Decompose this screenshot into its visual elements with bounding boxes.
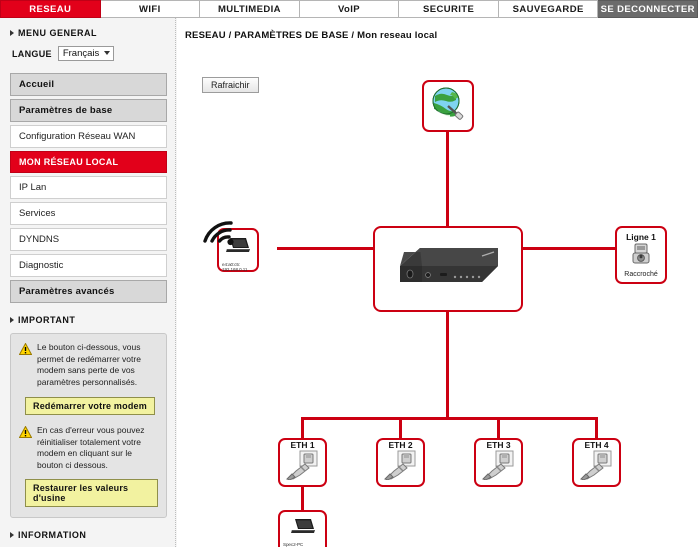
tab-wifi[interactable]: WIFI	[101, 0, 201, 18]
line-bus-to-eth1	[301, 417, 304, 438]
tab-securite[interactable]: SECURITE	[399, 0, 499, 18]
rj45-icon	[482, 450, 516, 485]
important-panel: Le bouton ci-dessous, vous permet de red…	[10, 333, 167, 518]
eth-1-label: ETH 1	[290, 440, 314, 450]
globe-plug-icon	[428, 84, 468, 129]
chevron-down-icon	[104, 51, 110, 55]
line-bus-to-eth2	[399, 417, 402, 438]
top-navigation: RESEAU WIFI MULTIMEDIA VoIP SECURITE SAU…	[0, 0, 698, 18]
information-header: INFORMATION	[10, 530, 167, 540]
factory-reset-button[interactable]: Restaurer les valeurs d'usine	[25, 479, 158, 507]
important-label: IMPORTANT	[18, 315, 75, 325]
important-header: IMPORTANT	[10, 315, 167, 325]
wifi-signal-icon	[201, 220, 237, 253]
node-eth-1[interactable]: ETH 1	[278, 438, 327, 487]
rj45-icon	[286, 450, 320, 485]
eth-2-label: ETH 2	[388, 440, 412, 450]
node-phone-line[interactable]: Ligne 1 Raccroché	[615, 226, 667, 284]
node-lan-client[interactable]: Spec2-PC d0:67:e5: 192.168.0.10	[278, 510, 327, 547]
menu-general-header: MENU GENERAL	[10, 28, 167, 38]
sidebar-item-dyndns[interactable]: DYNDNS	[10, 228, 167, 251]
triangle-right-icon	[10, 317, 14, 323]
phone-icon	[631, 243, 651, 270]
line-eth1-to-client	[301, 487, 304, 510]
node-eth-3[interactable]: ETH 3	[474, 438, 523, 487]
line-modem-to-bus	[446, 311, 449, 419]
warning-triangle-icon	[19, 343, 32, 355]
lan-client-name: Spec2-PC	[280, 542, 325, 547]
sidebar-item-parametres-avances[interactable]: Paramètres avancés	[10, 280, 167, 303]
line-bus-to-eth4	[595, 417, 598, 438]
sidebar-item-mon-reseau-local[interactable]: MON RÉSEAU LOCAL	[10, 151, 167, 173]
sidebar-item-parametres-de-base[interactable]: Paramètres de base	[10, 99, 167, 122]
language-select[interactable]: Français	[58, 46, 114, 61]
main-content: RESEAU / PARAMÈTRES DE BASE / Mon reseau…	[177, 18, 698, 547]
sidebar-menu: Accueil Paramètres de base Configuration…	[10, 73, 167, 303]
laptop-icon	[290, 517, 316, 540]
restart-modem-button[interactable]: Redémarrer votre modem	[25, 397, 155, 415]
warning-text-restart: Le bouton ci-dessous, vous permet de red…	[37, 342, 158, 388]
warning-row-restart: Le bouton ci-dessous, vous permet de red…	[19, 342, 158, 388]
line-eth-bus	[301, 417, 597, 420]
sidebar: MENU GENERAL LANGUE Français Accueil Par…	[0, 18, 176, 547]
triangle-right-icon	[10, 532, 14, 538]
triangle-right-icon	[10, 30, 14, 36]
language-row: LANGUE Français	[12, 46, 167, 61]
line-internet-to-modem	[446, 131, 449, 227]
menu-general-label: MENU GENERAL	[18, 28, 97, 38]
language-value: Français	[63, 48, 99, 59]
language-label: LANGUE	[12, 49, 52, 59]
router-admin-page: RESEAU WIFI MULTIMEDIA VoIP SECURITE SAU…	[0, 0, 698, 547]
rj45-icon	[384, 450, 418, 485]
warning-text-factory: En cas d'erreur vous pouvez réinitialise…	[37, 425, 158, 471]
node-eth-2[interactable]: ETH 2	[376, 438, 425, 487]
sidebar-item-services[interactable]: Services	[10, 202, 167, 225]
sidebar-item-ip-lan[interactable]: IP Lan	[10, 176, 167, 199]
tab-sauvegarde[interactable]: SAUVEGARDE	[499, 0, 599, 18]
warning-triangle-icon	[19, 426, 32, 438]
warning-row-factory: En cas d'erreur vous pouvez réinitialise…	[19, 425, 158, 471]
tab-voip[interactable]: VoIP	[300, 0, 400, 18]
node-eth-4[interactable]: ETH 4	[572, 438, 621, 487]
network-topology-diagram: e4:a0:c5: 192.168.0.11 Ligne 1	[177, 18, 698, 547]
tab-logout[interactable]: SE DECONNECTER	[598, 0, 698, 18]
line-bus-to-eth3	[497, 417, 500, 438]
phone-line-title: Ligne 1	[626, 232, 656, 242]
node-modem[interactable]	[373, 226, 523, 312]
phone-line-status: Raccroché	[624, 271, 657, 279]
modem-icon	[386, 236, 510, 303]
rj45-icon	[580, 450, 614, 485]
node-internet[interactable]	[422, 80, 474, 132]
information-label: INFORMATION	[18, 530, 86, 540]
tab-reseau[interactable]: RESEAU	[0, 0, 101, 18]
eth-4-label: ETH 4	[584, 440, 608, 450]
eth-3-label: ETH 3	[486, 440, 510, 450]
sidebar-item-diagnostic[interactable]: Diagnostic	[10, 254, 167, 277]
sidebar-item-configuration-reseau-wan[interactable]: Configuration Réseau WAN	[10, 125, 167, 148]
wifi-client-ip: 192.168.0.11	[219, 267, 257, 272]
tab-multimedia[interactable]: MULTIMEDIA	[200, 0, 300, 18]
sidebar-item-accueil[interactable]: Accueil	[10, 73, 167, 96]
